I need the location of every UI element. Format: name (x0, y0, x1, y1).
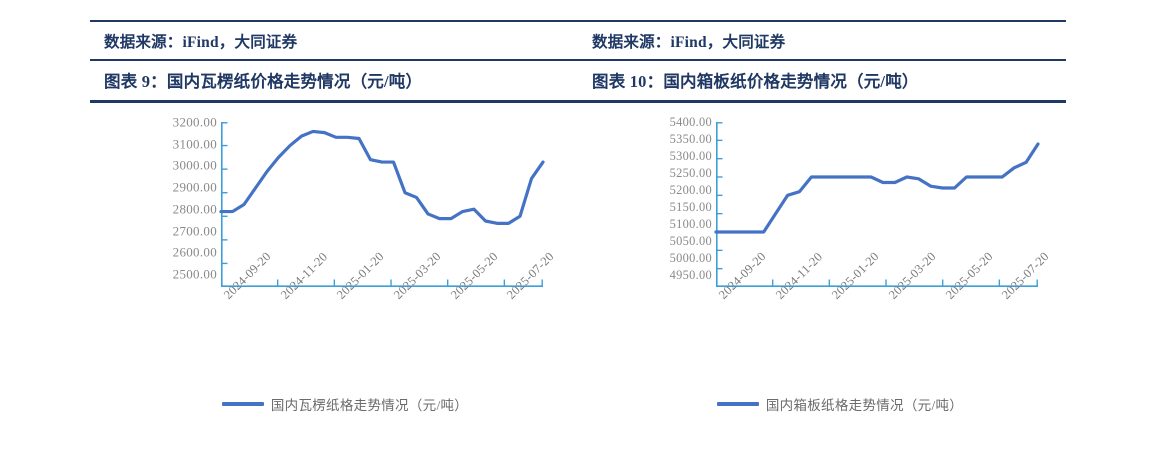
y-axis-tick-label: 5300.00 (670, 150, 712, 162)
source-row: 数据来源：iFind，大同证券 数据来源：iFind，大同证券 (90, 22, 1066, 59)
y-axis-tick-label: 2900.00 (173, 181, 217, 194)
y-axis-tick-label: 2800.00 (173, 202, 217, 215)
y-axis-tick-label: 5400.00 (670, 116, 712, 128)
legend-swatch-icon (717, 402, 759, 406)
y-axis-tick-label: 2500.00 (173, 267, 217, 280)
report-figures-page: 数据来源：iFind，大同证券 数据来源：iFind，大同证券 图表 9：国内瓦… (0, 0, 1156, 457)
source-cell-left: 数据来源：iFind，大同证券 (90, 22, 578, 59)
y-axis-tick-label: 3100.00 (173, 137, 217, 150)
legend-corrugated: 国内瓦楞纸格走势情况（元/吨） (95, 394, 595, 414)
y-axis-tick-label: 5100.00 (670, 218, 712, 230)
caption-cell-left: 图表 9：国内瓦楞纸价格走势情况（元/吨） (90, 61, 578, 100)
legend-label-corrugated: 国内瓦楞纸格走势情况（元/吨） (271, 394, 468, 414)
legend-boxboard: 国内箱板纸格走势情况（元/吨） (590, 394, 1090, 414)
y-axis-tick-label: 5200.00 (670, 184, 712, 196)
y-axis-tick-label: 3000.00 (173, 159, 217, 172)
y-axis-tick-label: 5150.00 (670, 201, 712, 213)
chart-panel-corrugated: 3200.003100.003000.002900.002800.002700.… (95, 122, 595, 452)
figure-caption-right: 图表 10：国内箱板纸价格走势情况（元/吨） (592, 72, 919, 91)
y-axis-tick-label: 4950.00 (670, 268, 712, 280)
y-axis-tick-label: 5000.00 (670, 251, 712, 263)
figure-caption-left: 图表 9：国内瓦楞纸价格走势情况（元/吨） (104, 72, 422, 91)
legend-swatch-icon (222, 402, 264, 406)
source-text-left: 数据来源：iFind，大同证券 (104, 34, 297, 51)
y-axis-tick-label: 2600.00 (173, 246, 217, 259)
x-axis-labels-boxboard: 2024-09-202024-11-202025-01-202025-03-20… (716, 292, 1046, 382)
y-axis-tick-label: 3200.00 (173, 116, 217, 129)
y-axis-tick-label: 5250.00 (670, 167, 712, 179)
chart-area-boxboard: 5400.005350.005300.005250.005200.005150.… (590, 122, 1090, 372)
caption-row: 图表 9：国内瓦楞纸价格走势情况（元/吨） 图表 10：国内箱板纸价格走势情况（… (90, 61, 1066, 100)
rule-bottom (90, 100, 1066, 103)
y-axis-labels-boxboard: 5400.005350.005300.005250.005200.005150.… (590, 122, 712, 287)
source-text-right: 数据来源：iFind，大同证券 (592, 34, 785, 51)
chart-area-corrugated: 3200.003100.003000.002900.002800.002700.… (95, 122, 595, 372)
chart-panel-boxboard: 5400.005350.005300.005250.005200.005150.… (590, 122, 1090, 452)
x-axis-labels-corrugated: 2024-09-202024-11-202025-01-202025-03-20… (221, 292, 551, 382)
y-axis-tick-label: 5350.00 (670, 133, 712, 145)
y-axis-labels-corrugated: 3200.003100.003000.002900.002800.002700.… (95, 122, 217, 287)
figure-headers: 数据来源：iFind，大同证券 数据来源：iFind，大同证券 图表 9：国内瓦… (90, 20, 1066, 103)
caption-cell-right: 图表 10：国内箱板纸价格走势情况（元/吨） (578, 61, 1066, 100)
legend-label-boxboard: 国内箱板纸格走势情况（元/吨） (766, 394, 963, 414)
source-cell-right: 数据来源：iFind，大同证券 (578, 22, 1066, 59)
y-axis-tick-label: 5050.00 (670, 234, 712, 246)
y-axis-tick-label: 2700.00 (173, 224, 217, 237)
